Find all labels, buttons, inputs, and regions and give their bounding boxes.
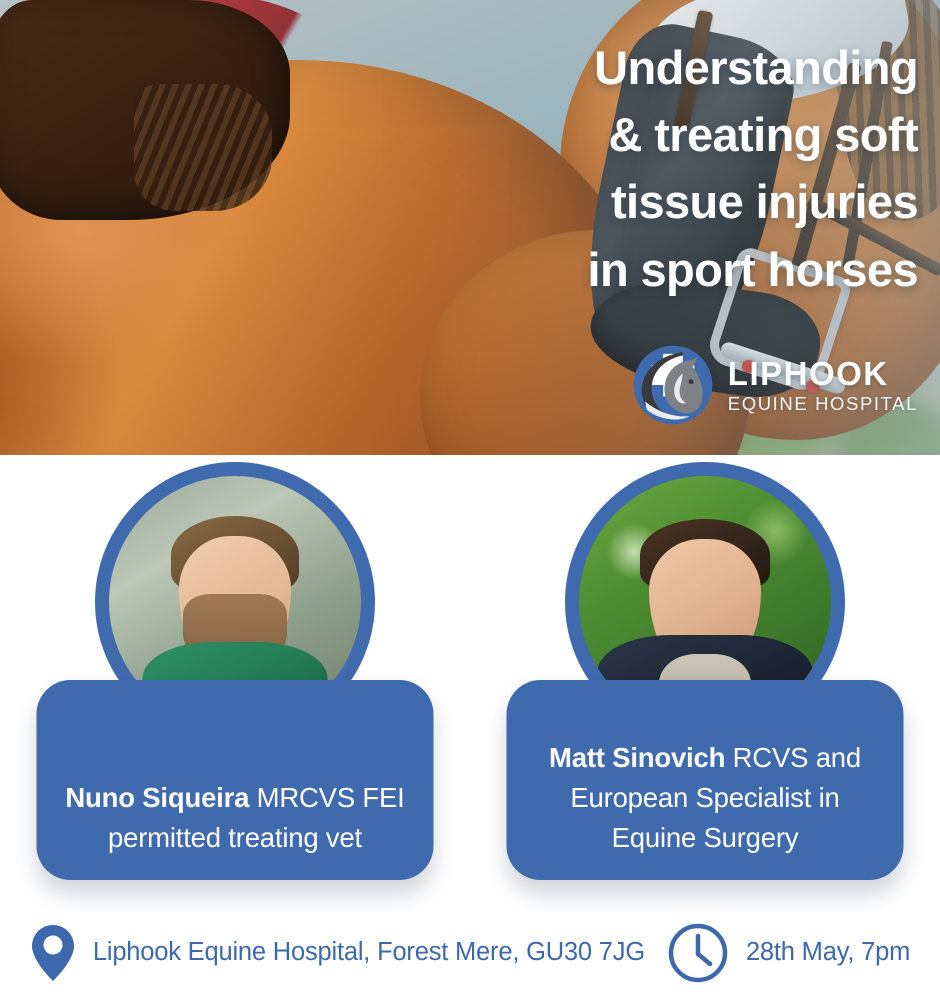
datetime-detail: 28th May, 7pm [667,922,910,984]
title-line-4: in sport horses [488,236,918,303]
speaker-qualification: RCVS [725,742,808,773]
title-line-3: tissue injuries [488,168,918,235]
speaker-name: Matt Sinovich [549,742,725,773]
speaker-info-card: Matt Sinovich RCVS and European Speciali… [507,680,904,880]
logo-name: LIPHOOK [728,357,918,390]
map-pin-icon [30,923,76,983]
title-line-1: Understanding [488,34,918,101]
speaker-info-card: Nuno Siqueira MRCVS FEI permitted treati… [37,680,434,880]
logo-wordmark: LIPHOOK EQUINE HOSPITAL [728,357,918,414]
location-text: Liphook Equine Hospital, Forest Mere, GU… [93,938,645,967]
title-line-2: & treating soft [488,101,918,168]
event-poster: Understanding & treating soft tissue inj… [0,0,940,1000]
speaker-details: Nuno Siqueira MRCVS FEI permitted treati… [55,778,416,858]
liphook-horse-head-cross-icon [632,344,714,426]
event-details-footer: Liphook Equine Hospital, Forest Mere, GU… [0,905,940,1000]
clock-icon [667,922,729,984]
location-detail: Liphook Equine Hospital, Forest Mere, GU… [30,923,645,983]
logo-subtitle: EQUINE HOSPITAL [728,395,918,414]
speaker-card-nuno-siqueira: Nuno Siqueira MRCVS FEI permitted treati… [0,455,470,905]
speaker-qualification: MRCVS [249,782,355,813]
datetime-text: 28th May, 7pm [746,938,910,967]
speaker-name: Nuno Siqueira [65,782,249,813]
speakers-section: Nuno Siqueira MRCVS FEI permitted treati… [0,455,940,905]
hero-banner: Understanding & treating soft tissue inj… [0,0,940,455]
speaker-card-matt-sinovich: Matt Sinovich RCVS and European Speciali… [470,455,940,905]
saddle-pad-shape [0,0,290,220]
poster-title: Understanding & treating soft tissue inj… [488,34,918,303]
liphook-logo: LIPHOOK EQUINE HOSPITAL [632,344,918,426]
speaker-details: Matt Sinovich RCVS and European Speciali… [525,738,886,858]
